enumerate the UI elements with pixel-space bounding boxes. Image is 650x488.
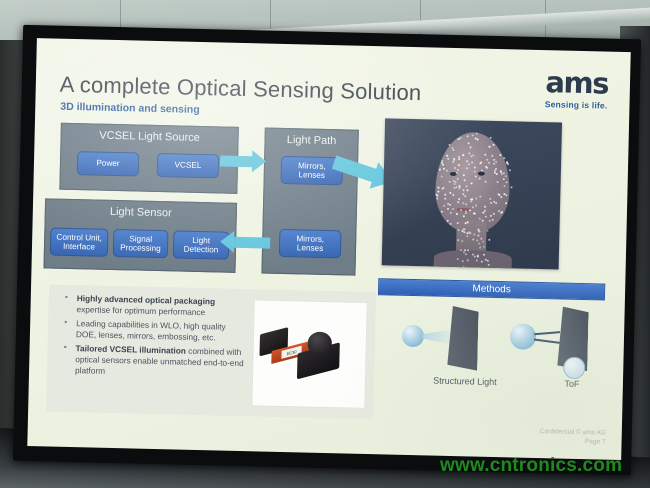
face-dot-projection-photo — [382, 118, 562, 269]
projection-dot — [462, 154, 464, 156]
features-panel: Highly advanced optical packaging expert… — [46, 284, 376, 419]
site-watermark: www.cntronics.com — [440, 455, 622, 477]
methods-banner: Methods — [378, 278, 605, 300]
box-mirrors-lenses-in[interactable]: Mirrors, Lenses — [279, 229, 342, 258]
projection-dot — [464, 212, 466, 214]
projection-dot — [501, 173, 503, 175]
tof-timer-icon — [563, 357, 586, 380]
projection-dot — [498, 193, 500, 195]
projection-dot — [452, 161, 454, 163]
projection-dot — [495, 168, 497, 170]
projection-dot — [465, 185, 467, 187]
projection-dot — [458, 187, 460, 189]
box-signal-processing[interactable]: Signal Processing — [113, 229, 169, 258]
projection-dot — [477, 234, 479, 236]
projection-dot — [440, 175, 442, 177]
projection-dot — [503, 157, 505, 159]
projection-dot — [476, 138, 478, 140]
projection-dot — [471, 161, 473, 163]
projection-dot — [509, 169, 511, 171]
projection-dot — [485, 215, 487, 217]
projection-dot — [506, 161, 508, 163]
projection-dot — [467, 235, 469, 237]
projection-dot — [471, 182, 473, 184]
projection-dot — [472, 206, 474, 208]
projection-dot — [470, 200, 472, 202]
group-light-path: Light Path Mirrors, Lenses Mirrors, Lens… — [261, 128, 358, 276]
projection-dot — [438, 168, 440, 170]
projection-dot — [468, 152, 470, 154]
projection-dot — [457, 229, 459, 231]
photo-of-projected-slide: ams Sensing is life. A complete Optical … — [0, 0, 650, 488]
projection-dot — [477, 229, 479, 231]
method-caption-structured-light: Structured Light — [427, 375, 503, 387]
projection-dot — [484, 205, 486, 207]
tof-ray-1 — [534, 331, 560, 335]
ams-logo: ams Sensing is life. — [545, 68, 609, 110]
projection-dot — [466, 232, 468, 234]
projection-dot — [475, 204, 477, 206]
projection-dot — [469, 232, 471, 234]
projection-dot — [470, 155, 472, 157]
projection-dot — [457, 169, 459, 171]
projection-dot — [496, 181, 498, 183]
module-lens — [308, 332, 333, 357]
projection-dot — [510, 186, 512, 188]
logo-wordmark: ams — [545, 68, 608, 98]
slide-footer: Confidential © ams AG Page 7 — [540, 427, 606, 448]
footer-page: Page 7 — [540, 436, 606, 447]
projection-dot — [473, 170, 475, 172]
projection-dot — [486, 158, 488, 160]
method-caption-tof: ToF — [543, 378, 601, 390]
projection-dot — [467, 249, 469, 251]
projection-dot — [490, 136, 492, 138]
projection-dot — [443, 205, 445, 207]
bullet-1-rest: expertise for optimum performance — [76, 304, 205, 317]
projection-dot — [486, 260, 488, 262]
projection-dot — [481, 219, 483, 221]
group-title-light-path: Light Path — [265, 134, 357, 148]
projection-dot — [500, 212, 502, 214]
light-source-sphere-sl — [402, 325, 425, 348]
bullet-2-rest: Leading capabilities in WLO, high qualit… — [76, 318, 226, 342]
projection-dot — [474, 212, 476, 214]
projection-dot — [482, 241, 484, 243]
projection-dot — [458, 158, 460, 160]
group-title-light-sensor: Light Sensor — [46, 204, 236, 220]
projection-dot — [458, 156, 460, 158]
projection-dot — [467, 142, 469, 144]
slide-canvas: ams Sensing is life. A complete Optical … — [27, 38, 630, 460]
logo-tagline: Sensing is life. — [545, 99, 608, 110]
projection-dot — [447, 202, 449, 204]
projection-dot — [460, 137, 462, 139]
projection-dot — [462, 260, 464, 262]
projection-dot — [479, 196, 481, 198]
projection-dot — [489, 197, 491, 199]
projection-dot — [441, 210, 443, 212]
projection-dot — [446, 220, 448, 222]
projection-dot — [441, 162, 443, 164]
footer-confidential: Confidential © ams AG — [540, 427, 606, 438]
projection-dot — [487, 229, 489, 231]
projected-dot-pattern — [385, 118, 562, 122]
projection-dot — [463, 266, 465, 268]
projection-dot — [479, 163, 481, 165]
projection-dot — [489, 220, 491, 222]
target-panel-sl — [447, 306, 478, 371]
projection-dot — [453, 167, 455, 169]
projection-dot — [483, 246, 485, 248]
projection-dot — [491, 218, 493, 220]
projection-dot — [443, 168, 445, 170]
projection-dot — [456, 186, 458, 188]
projection-dot — [441, 187, 443, 189]
projection-dot — [462, 215, 464, 217]
projection-dot — [456, 213, 458, 215]
projection-dot — [474, 255, 476, 257]
light-source-sphere-tof — [510, 323, 537, 350]
projection-dot — [484, 153, 486, 155]
box-power[interactable]: Power — [77, 151, 140, 176]
group-light-sensor: Light Sensor Control Unit, Interface Sig… — [43, 198, 237, 273]
projection-dot — [488, 239, 490, 241]
projection-dot — [499, 154, 501, 156]
face-eye-right — [478, 172, 485, 176]
projection-dot — [472, 134, 474, 136]
projection-dot — [473, 233, 475, 235]
projection-dot — [472, 253, 474, 255]
features-list: Highly advanced optical packaging expert… — [57, 293, 249, 384]
projection-dot — [457, 201, 459, 203]
projection-dot — [505, 194, 507, 196]
projection-dot — [503, 172, 505, 174]
projection-dot — [465, 253, 467, 255]
projection-dot — [503, 185, 505, 187]
projection-dot — [447, 208, 449, 210]
list-item: Tailored VCSEL illumination combined wit… — [57, 343, 248, 379]
projection-dot — [466, 167, 468, 169]
projection-dot — [444, 194, 446, 196]
projection-dot — [479, 177, 481, 179]
projection-dot — [476, 240, 478, 242]
projection-dot — [463, 179, 465, 181]
list-item: Leading capabilities in WLO, high qualit… — [58, 318, 248, 344]
list-item: Highly advanced optical packaging expert… — [58, 293, 248, 319]
product-photo: EE30 — [251, 299, 367, 409]
group-title-vcsel: VCSEL Light Source — [62, 129, 238, 145]
projection-dot — [469, 210, 471, 212]
projection-dot — [495, 173, 497, 175]
box-control-unit-interface[interactable]: Control Unit, Interface — [50, 227, 109, 256]
projection-screen: ams Sensing is life. A complete Optical … — [13, 25, 641, 475]
projection-dot — [456, 222, 458, 224]
box-vcsel[interactable]: VCSEL — [157, 153, 220, 178]
projection-dot — [507, 163, 509, 165]
projection-dot — [464, 195, 466, 197]
projection-dot — [449, 204, 451, 206]
projection-dot — [476, 132, 478, 134]
tof-ray-2 — [534, 339, 560, 344]
projection-dot — [474, 166, 476, 168]
projection-dot — [491, 154, 493, 156]
group-vcsel-light-source: VCSEL Light Source Power VCSEL — [59, 123, 239, 194]
slide-subtitle: 3D illumination and sensing — [60, 101, 200, 116]
structured-beam — [422, 329, 450, 344]
